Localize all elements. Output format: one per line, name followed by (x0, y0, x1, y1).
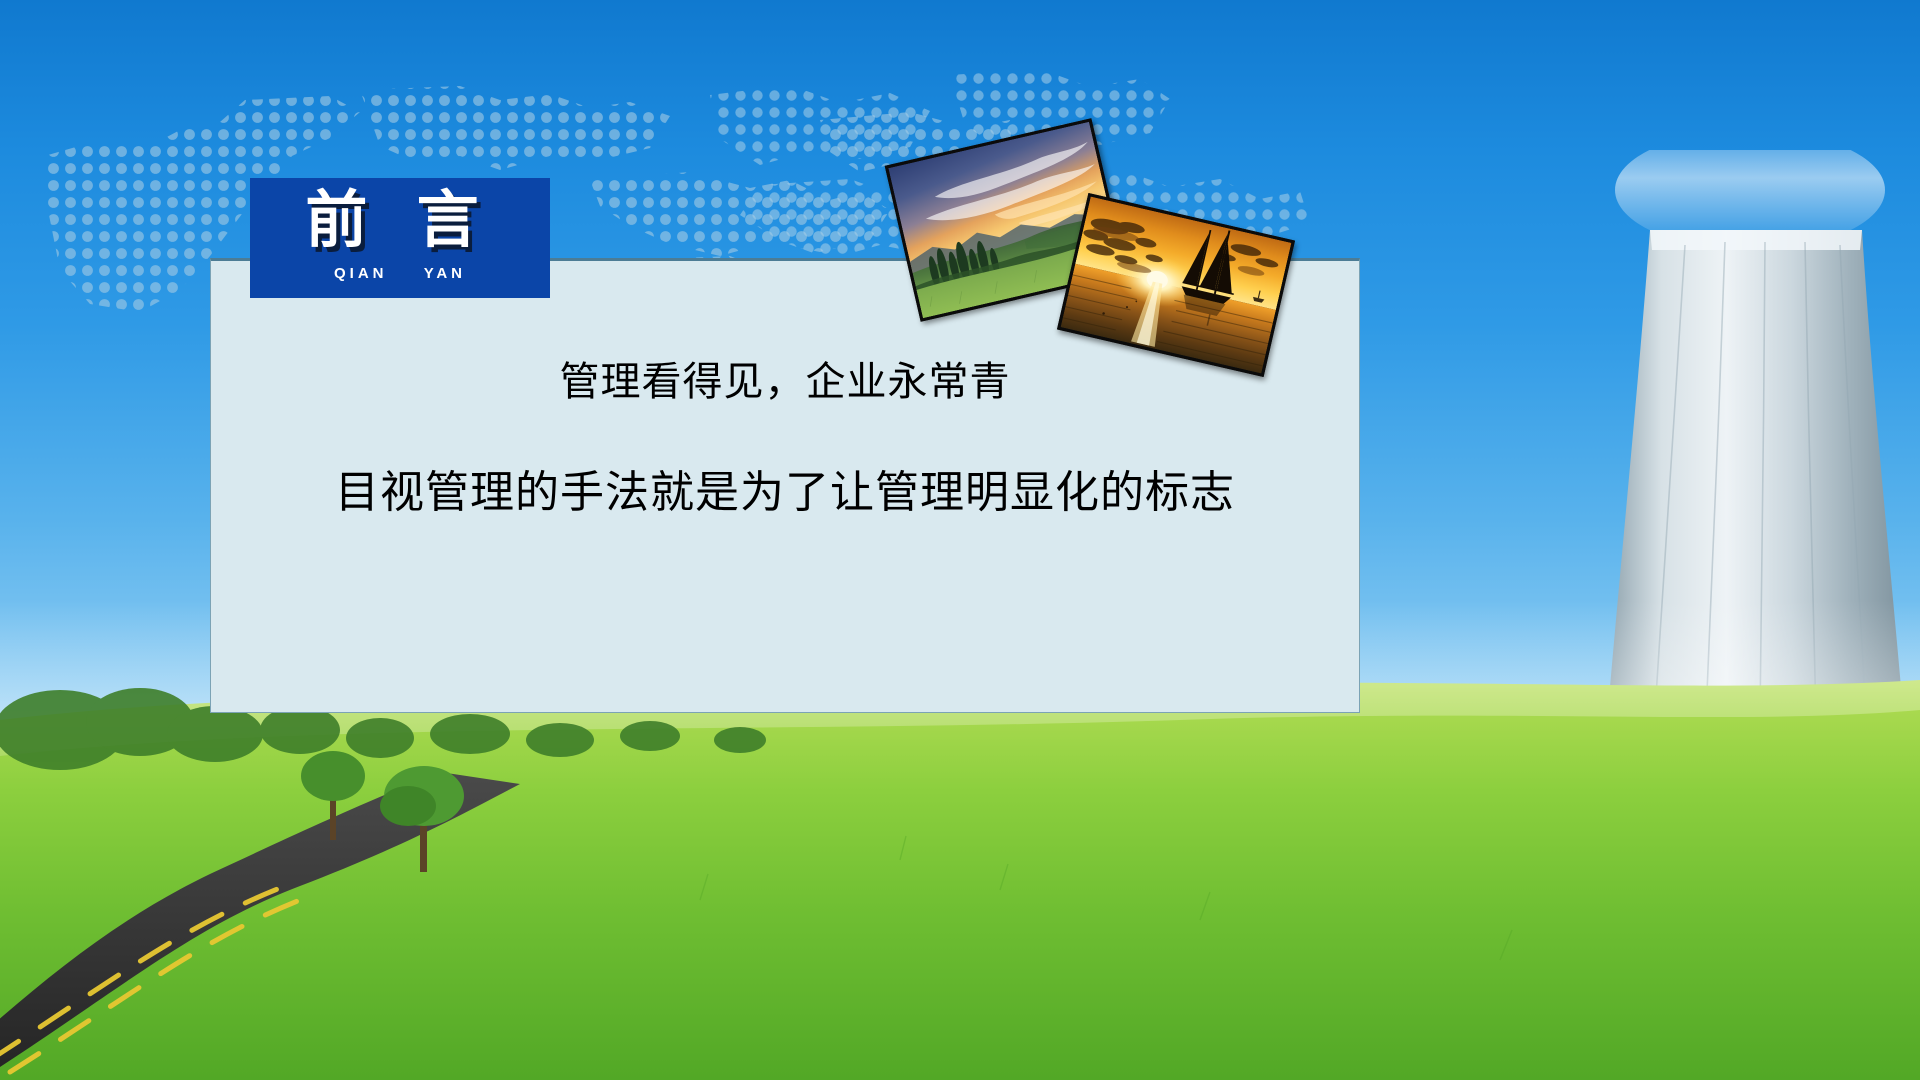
headline-text-line-1: 管理看得见，企业永常青 (251, 357, 1319, 407)
section-title-badge: 前 言 QIAN YAN (250, 178, 550, 298)
section-title-pinyin: QIAN YAN (250, 266, 550, 281)
pinyin-qian: QIAN (334, 265, 388, 282)
grass-field-image (0, 660, 1920, 1080)
section-title-chinese: 前 言 (250, 190, 550, 252)
headline-text-line-2: 目视管理的手法就是为了让管理明显化的标志 (251, 465, 1319, 520)
slide-canvas: 管理看得见，企业永常青 目视管理的手法就是为了让管理明显化的标志 (0, 0, 1920, 1080)
pinyin-yan: YAN (424, 265, 466, 282)
